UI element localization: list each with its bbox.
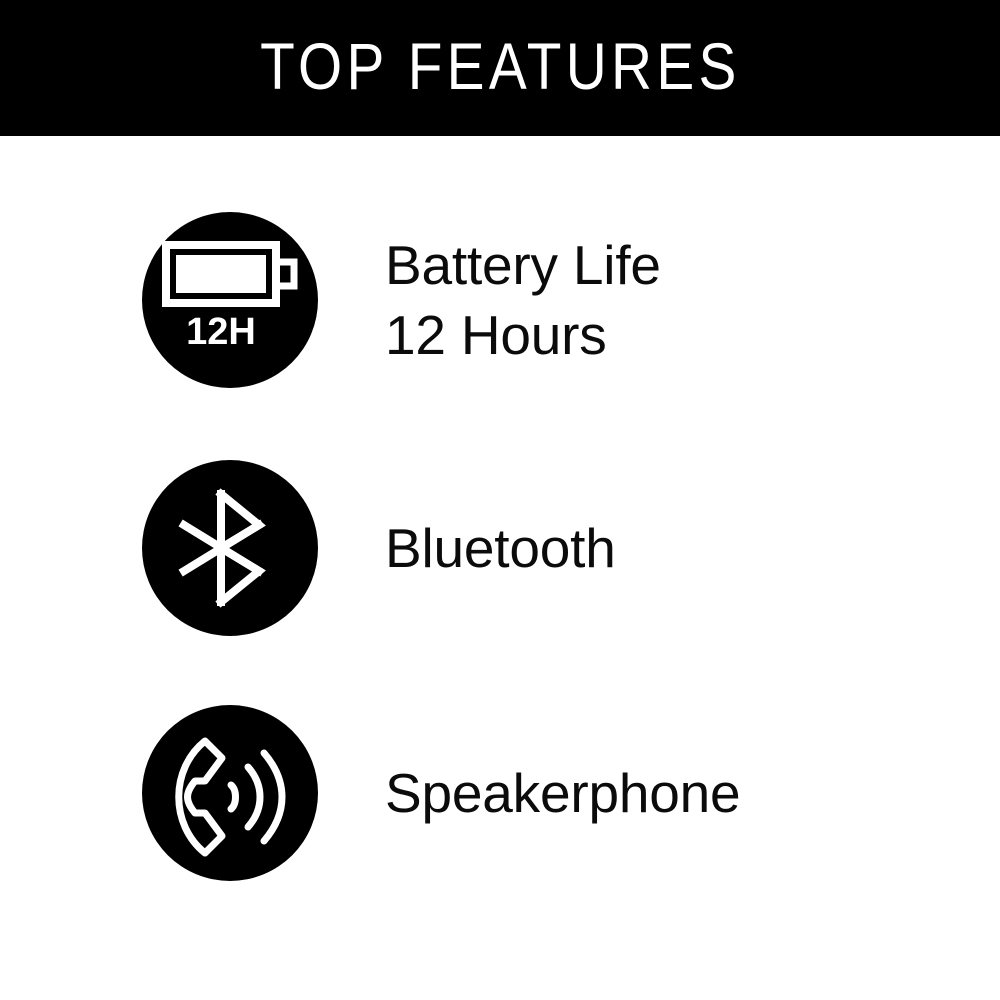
bluetooth-icon bbox=[142, 460, 318, 636]
page-title: TOP FEATURES bbox=[260, 33, 741, 103]
feature-item-battery: 12H Battery Life 12 Hours bbox=[142, 212, 962, 388]
feature-label-battery: Battery Life 12 Hours bbox=[385, 230, 661, 371]
header-bar: TOP FEATURES bbox=[0, 0, 1000, 136]
battery-icon: 12H bbox=[142, 212, 318, 388]
feature-item-speakerphone: Speakerphone bbox=[142, 705, 962, 881]
feature-label-speakerphone: Speakerphone bbox=[385, 758, 740, 828]
feature-label-bluetooth: Bluetooth bbox=[385, 513, 616, 583]
battery-hours-text: 12H bbox=[186, 311, 256, 353]
speakerphone-icon bbox=[142, 705, 318, 881]
feature-item-bluetooth: Bluetooth bbox=[142, 460, 962, 636]
feature-list: 12H Battery Life 12 Hours Bluetooth bbox=[0, 136, 1000, 1000]
